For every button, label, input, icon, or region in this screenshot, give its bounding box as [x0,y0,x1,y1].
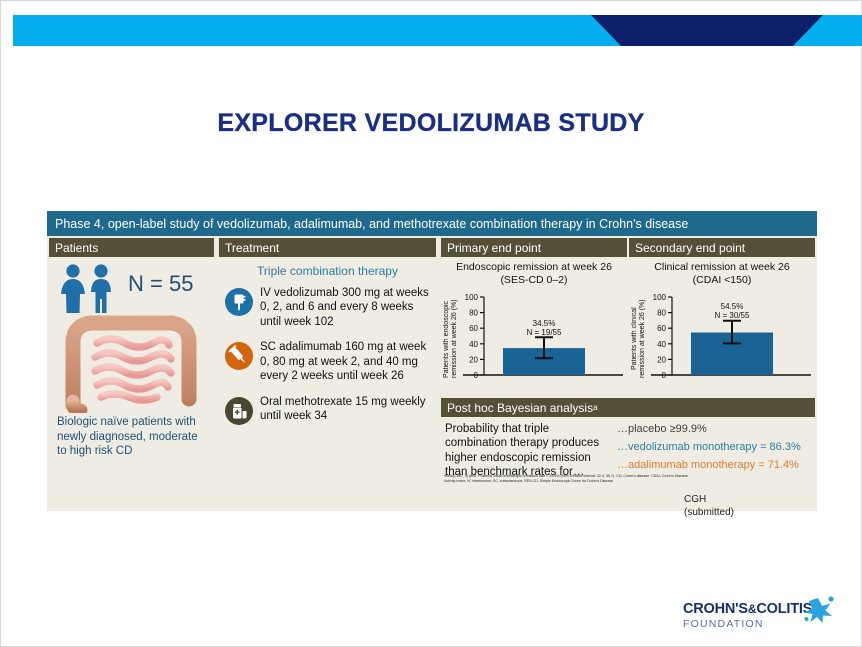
svg-text:20: 20 [657,355,666,364]
svg-text:40: 40 [469,339,478,348]
panel-bayesian: Post hoc Bayesian analysisa Probability … [441,398,815,472]
syringe-icon [225,342,253,370]
attribution-line2: (submitted) [684,506,734,519]
study-figure: Phase 4, open-label study of vedolizumab… [47,211,817,511]
primary-n-label: N = 19/55 [527,328,562,337]
svg-text:0: 0 [474,371,479,380]
svg-text:20: 20 [469,355,478,364]
svg-text:80: 80 [469,308,478,317]
figure-header: Phase 4, open-label study of vedolizumab… [47,211,817,236]
bayesian-header-superscript: a [593,403,597,412]
primary-data-label: 34.5% [533,319,556,328]
primary-chart-title: Endoscopic remission at week 26 [445,261,623,274]
treatment-item-text: Oral methotrexate 15 mg weekly until wee… [260,395,430,424]
top-banner [13,15,862,46]
panel-primary-endpoint: Primary end point Endoscopic remission a… [441,238,627,396]
svg-text:60: 60 [657,324,666,333]
svg-text:100: 100 [465,293,479,302]
bayesian-row-placebo: …placebo ≥99.9% [617,423,815,435]
panel-secondary-endpoint: Secondary end point Clinical remission a… [629,238,815,396]
panel-patients: Patients N = 55 [49,238,214,509]
primary-chart-plot: 0 20 40 60 80 100 [441,289,627,387]
panel-bayesian-header: Post hoc Bayesian analysisa [441,398,815,417]
svg-text:80: 80 [657,308,666,317]
figure-footnote: ᵃBeta(1.667, 5) prior. Posterior mean en… [444,474,694,484]
panel-secondary-endpoint-header: Secondary end point [629,238,815,257]
attribution-line1: CGH [684,493,734,506]
secondary-chart-caption: Clinical remission at week 26 (CDAI <150… [629,257,815,289]
svg-text:60: 60 [469,324,478,333]
treatment-item: IV vedolizumab 300 mg at weeks 0, 2, and… [225,286,430,329]
slide-canvas: EXPLORER VEDOLIZUMAB STUDY Phase 4, open… [0,0,862,647]
starburst-icon [801,595,835,625]
patient-count: N = 55 [128,271,193,297]
secondary-chart-plot: 0 20 40 60 80 100 [629,289,815,387]
bayesian-row-adalimumab: …adalimumab monotherapy = 71.4% [617,459,815,471]
banner-chevron-accent [591,15,823,46]
page-title: EXPLORER VEDOLIZUMAB STUDY [1,109,861,138]
bayesian-row-vedolizumab: …vedolizumab monotherapy = 86.3% [617,441,815,453]
panel-treatment: Treatment Triple combination therapy IV … [219,238,436,509]
primary-chart-caption: Endoscopic remission at week 26 (SES-CD … [441,257,627,289]
treatment-item: SC adalimumab 160 mg at week 0, 80 mg at… [225,340,430,383]
primary-chart-subtitle: (SES-CD 0–2) [445,274,623,287]
treatment-subhead: Triple combination therapy [219,264,436,278]
logo-name-part1: CROHN'S [683,601,748,617]
secondary-chart: Patients with clinical remission at week… [629,289,815,387]
panel-treatment-header: Treatment [219,238,436,257]
secondary-chart-subtitle: (CDAI <150) [633,274,811,287]
people-icon [57,263,121,315]
treatment-item-text: IV vedolizumab 300 mg at weeks 0, 2, and… [260,286,430,329]
secondary-chart-ylabel: Patients with clinical remission at week… [631,293,645,385]
organization-logo: CROHN'S&COLITIS FOUNDATION [683,601,833,637]
svg-text:0: 0 [662,371,667,380]
treatment-item: Oral methotrexate 15 mg weekly until wee… [225,395,430,425]
primary-chart-ylabel: Patients with endoscopic remission at we… [443,293,457,385]
svg-text:40: 40 [657,339,666,348]
panel-endpoints: Primary end point Endoscopic remission a… [441,238,815,509]
panel-patients-header: Patients [49,238,214,257]
primary-chart: Patients with endoscopic remission at we… [441,289,627,387]
bayesian-header-text: Post hoc Bayesian analysis [447,401,593,415]
bayesian-question: Probability that triple combination ther… [441,417,615,472]
secondary-data-label: 54.5% [721,302,744,311]
treatment-item-text: SC adalimumab 160 mg at week 0, 80 mg at… [260,340,430,383]
iv-drip-icon [225,288,253,316]
intestine-illustration [51,309,211,413]
bayesian-results: …placebo ≥99.9% …vedolizumab monotherapy… [615,417,815,472]
pill-bottle-icon [225,397,253,425]
secondary-chart-title: Clinical remission at week 26 [633,261,811,274]
attribution: CGH (submitted) [684,493,734,519]
figure-body: Patients N = 55 [47,238,817,511]
svg-text:100: 100 [653,293,667,302]
secondary-n-label: N = 30/55 [715,311,750,320]
patients-note: Biologic naïve patients with newly diagn… [57,415,210,459]
panel-primary-endpoint-header: Primary end point [441,238,627,257]
